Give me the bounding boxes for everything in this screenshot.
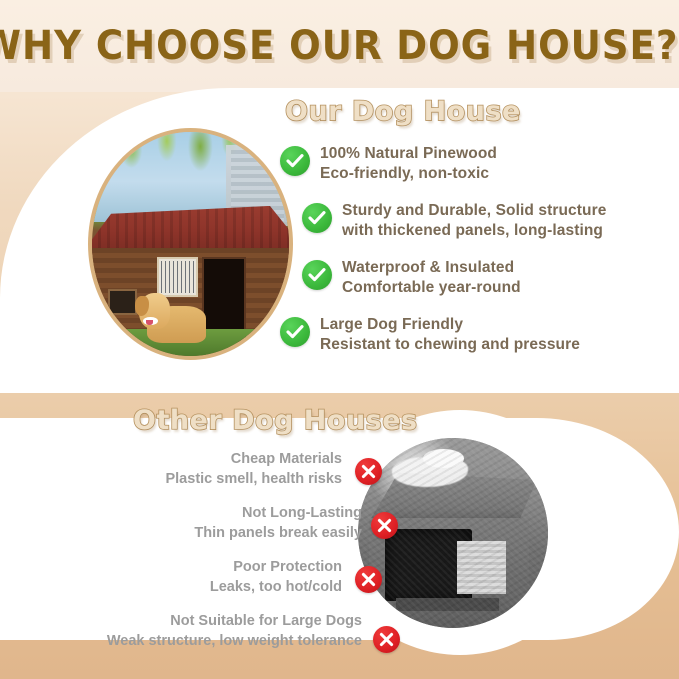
feature-title: Waterproof & Insulated xyxy=(342,258,672,278)
check-circle-icon xyxy=(280,317,310,347)
drawback-desc: Plastic smell, health risks xyxy=(0,470,342,490)
drawback-item: Cheap Materials Plastic smell, health ri… xyxy=(0,450,390,490)
check-circle-icon xyxy=(302,260,332,290)
golden-retriever-dog xyxy=(139,284,206,342)
check-circle-icon xyxy=(302,203,332,233)
feature-item: Sturdy and Durable, Solid structure with… xyxy=(272,201,672,245)
feature-title: 100% Natural Pinewood xyxy=(320,144,672,164)
page-title: WHY CHOOSE OUR DOG HOUSE?" xyxy=(0,23,679,69)
feature-title: Sturdy and Durable, Solid structure xyxy=(342,201,672,221)
feature-item: Waterproof & Insulated Comfortable year-… xyxy=(272,258,672,302)
drawbacks-list: Cheap Materials Plastic smell, health ri… xyxy=(0,450,390,666)
drawback-title: Poor Protection xyxy=(0,558,342,578)
feature-desc: Eco-friendly, non-toxic xyxy=(320,164,672,184)
x-circle-icon xyxy=(355,566,382,593)
comparison-infographic: WHY CHOOSE OUR DOG HOUSE?" Our Dog House xyxy=(0,0,679,679)
feature-desc: Comfortable year-round xyxy=(342,278,672,298)
feature-item: 100% Natural Pinewood Eco-friendly, non-… xyxy=(272,144,672,188)
drawback-title: Not Suitable for Large Dogs xyxy=(0,612,362,632)
drawback-item: Poor Protection Leaks, too hot/cold xyxy=(0,558,390,598)
header-banner: WHY CHOOSE OUR DOG HOUSE?" xyxy=(0,0,679,92)
feature-item: Large Dog Friendly Resistant to chewing … xyxy=(272,315,672,359)
drawback-title: Not Long-Lasting xyxy=(0,504,362,524)
feature-title: Large Dog Friendly xyxy=(320,315,672,335)
drawback-title: Cheap Materials xyxy=(0,450,342,470)
other-dog-houses-heading: Other Dog Houses xyxy=(133,405,418,436)
drawback-desc: Weak structure, low weight tolerance xyxy=(0,632,362,652)
feature-desc: with thickened panels, long-lasting xyxy=(342,221,672,241)
drawback-item: Not Long-Lasting Thin panels break easil… xyxy=(0,504,390,544)
our-dog-house-heading: Our Dog House xyxy=(285,96,521,127)
drawback-desc: Thin panels break easily xyxy=(0,524,362,544)
side-window xyxy=(108,289,138,315)
feature-desc: Resistant to chewing and pressure xyxy=(320,335,672,355)
our-dog-house-photo xyxy=(88,128,293,360)
check-circle-icon xyxy=(280,146,310,176)
features-list: 100% Natural Pinewood Eco-friendly, non-… xyxy=(272,144,672,372)
x-circle-icon xyxy=(373,626,400,653)
x-circle-icon xyxy=(355,458,382,485)
drawback-item: Not Suitable for Large Dogs Weak structu… xyxy=(0,612,390,652)
x-circle-icon xyxy=(371,512,398,539)
drawback-desc: Leaks, too hot/cold xyxy=(0,578,342,598)
our-dog-house-image xyxy=(92,132,289,356)
